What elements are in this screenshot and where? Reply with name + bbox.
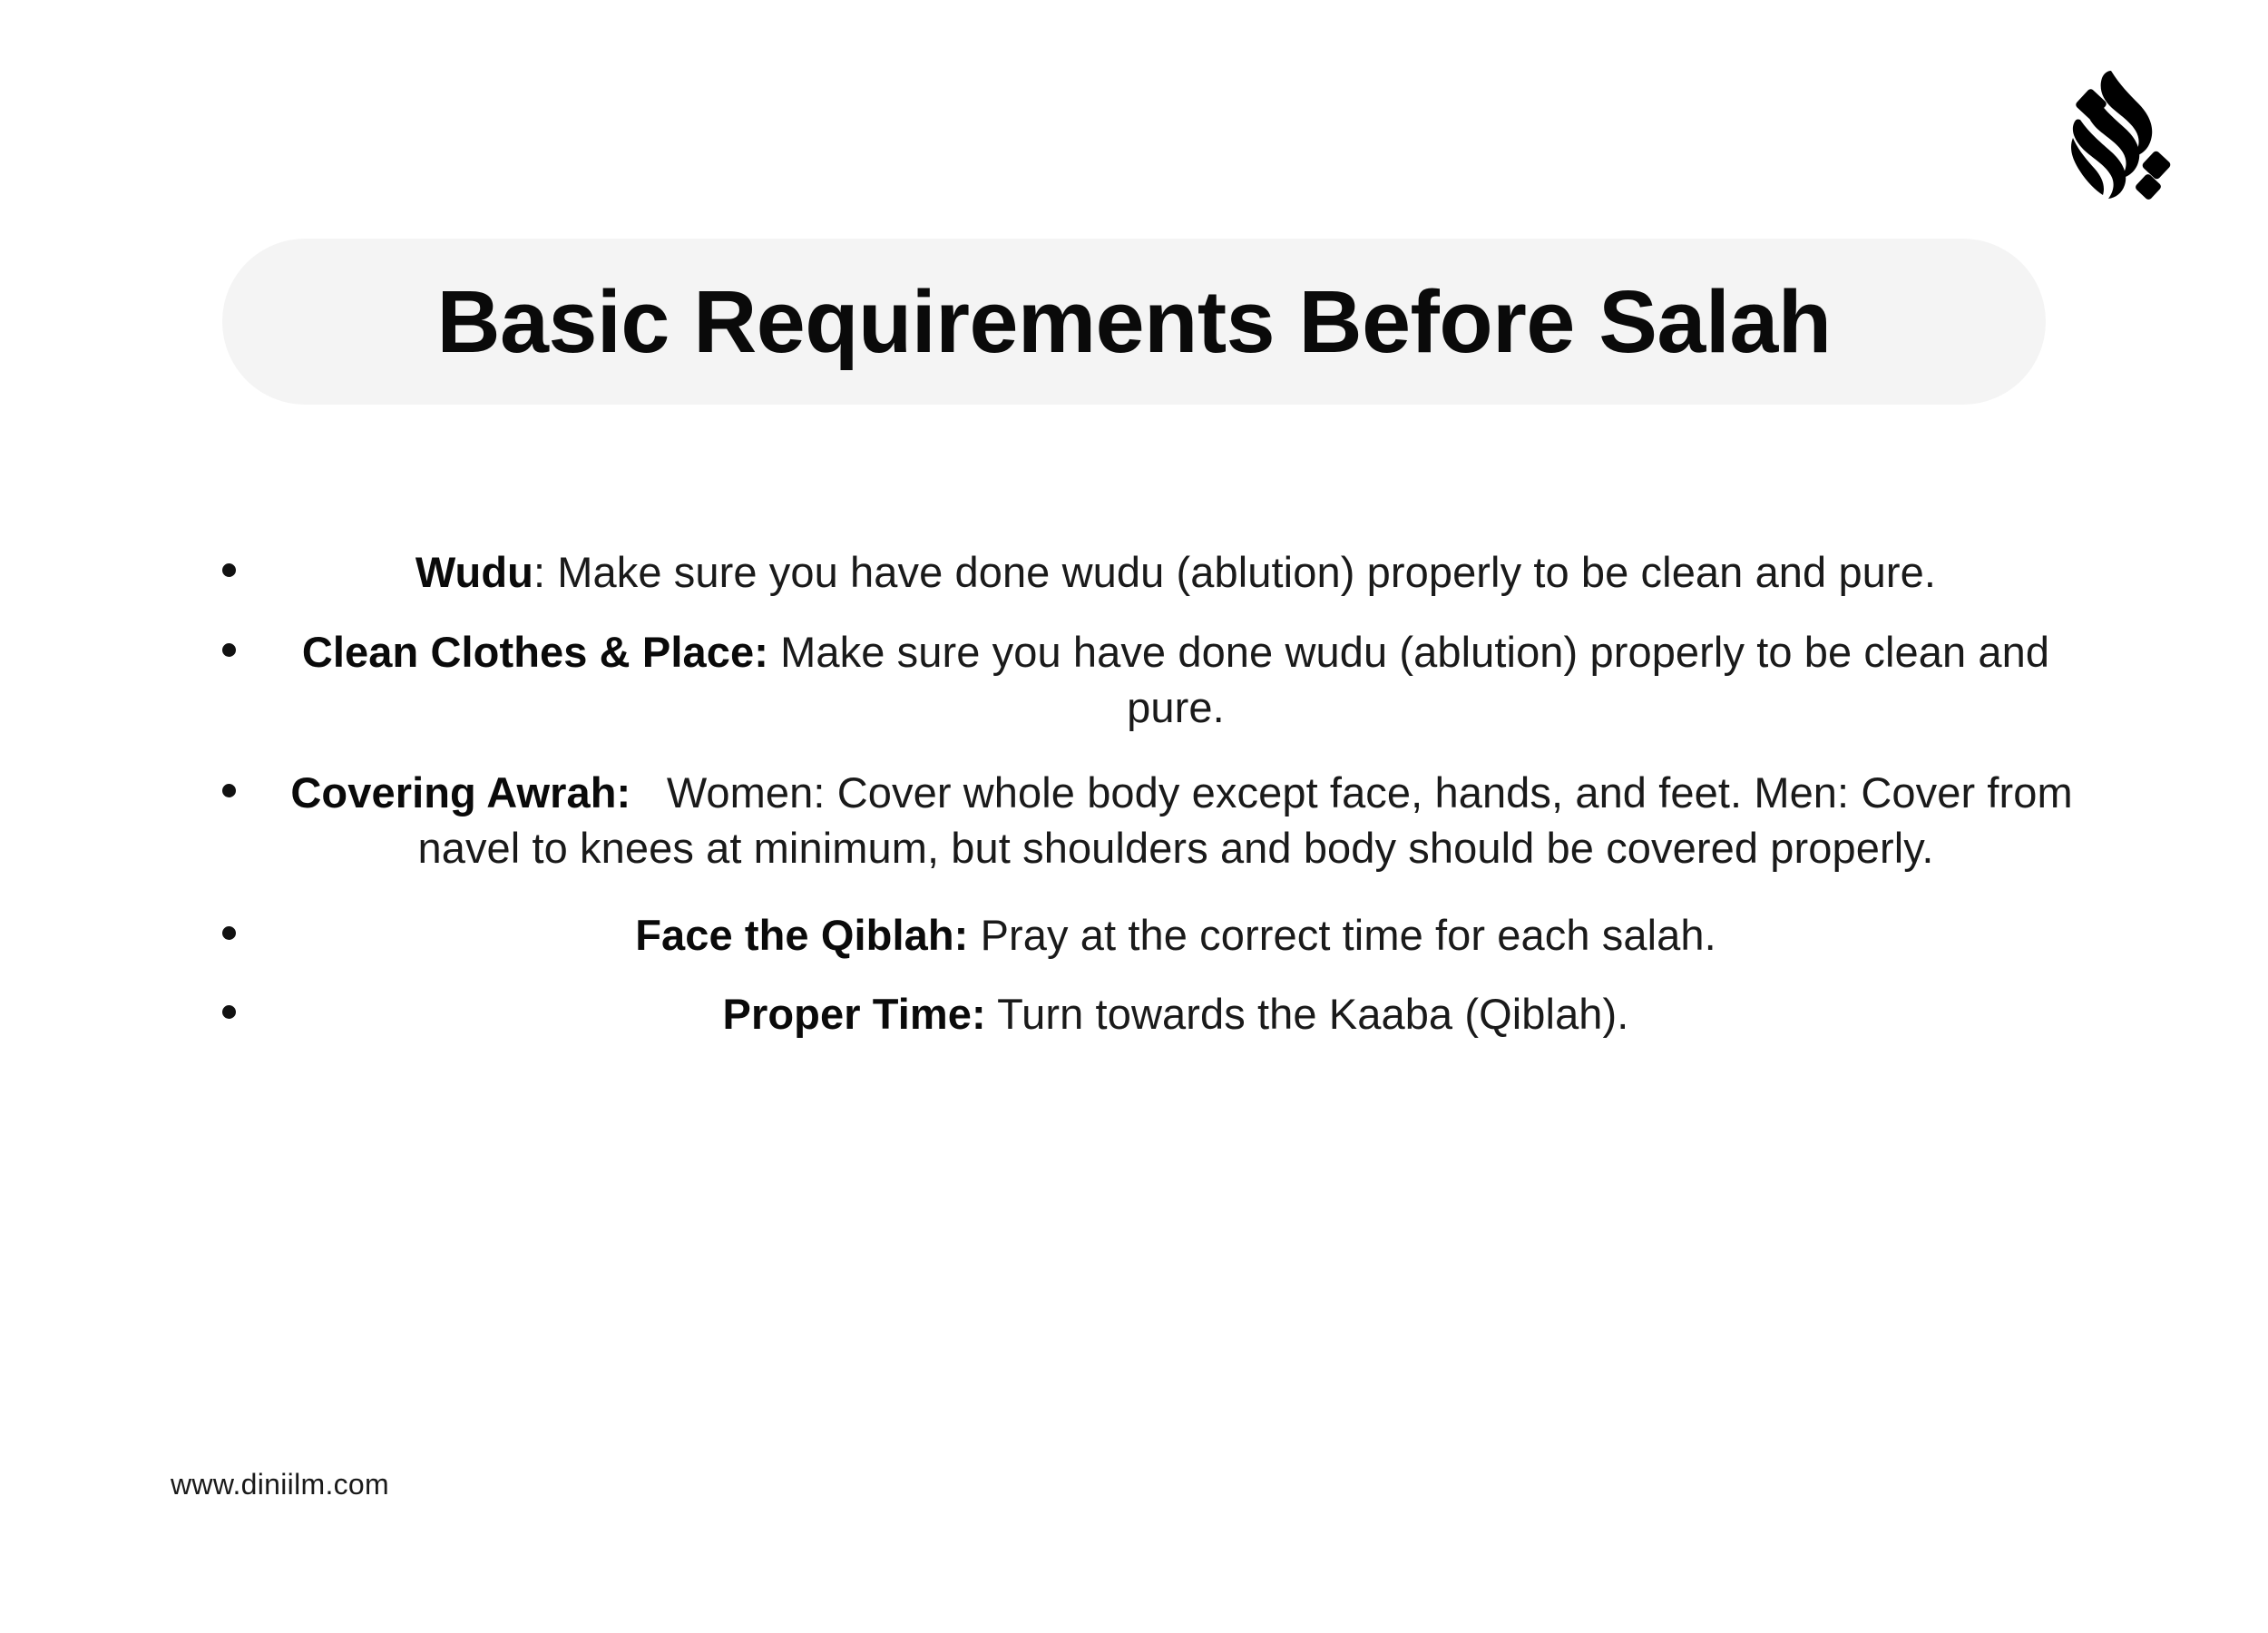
list-item-separator	[631, 768, 666, 816]
list-item: Proper Time: Turn towards the Kaaba (Qib…	[222, 986, 2087, 1042]
bullet-dot-icon	[222, 624, 265, 657]
list-item: Face the Qiblah: Pray at the correct tim…	[222, 907, 2087, 963]
list-item-label: Wudu	[415, 548, 533, 596]
page-title: Basic Requirements Before Salah	[436, 276, 1831, 368]
list-item-text: Covering Awrah: Women: Cover whole body …	[265, 765, 2087, 876]
bullet-dot-icon	[222, 907, 265, 940]
list-item-text: Wudu: Make sure you have done wudu (ablu…	[265, 544, 2087, 601]
list-item-label: Face the Qiblah:	[635, 911, 968, 959]
list-item-separator	[968, 911, 980, 959]
list-item-separator: :	[533, 548, 557, 596]
list-item-body: Pray at the correct time for each salah.	[981, 911, 1716, 959]
arabic-calligraphy-logo	[2055, 64, 2182, 200]
bullet-dot-icon	[222, 544, 265, 577]
list-item-text: Proper Time: Turn towards the Kaaba (Qib…	[265, 986, 2087, 1042]
list-item: Wudu: Make sure you have done wudu (ablu…	[222, 544, 2087, 601]
list-item-separator	[986, 990, 997, 1038]
list-item-separator	[768, 628, 780, 676]
list-item-label: Covering Awrah:	[279, 768, 631, 816]
list-item: Clean Clothes & Place: Make sure you hav…	[222, 624, 2087, 736]
slide-canvas: Basic Requirements Before Salah Wudu: Ma…	[0, 0, 2268, 1633]
list-item-label: Proper Time:	[723, 990, 986, 1038]
list-item-body: Women: Cover whole body except face, han…	[417, 768, 2072, 873]
list-item-body: Turn towards the Kaaba (Qiblah).	[997, 990, 1628, 1038]
bullet-dot-icon	[222, 986, 265, 1019]
list-item-text: Face the Qiblah: Pray at the correct tim…	[265, 907, 2087, 963]
page-title-pill: Basic Requirements Before Salah	[222, 239, 2046, 405]
bullet-dot-icon	[222, 765, 265, 797]
list-item-text: Clean Clothes & Place: Make sure you hav…	[265, 624, 2087, 736]
list-item-label: Clean Clothes & Place:	[302, 628, 768, 676]
list-item-body: Make sure you have done wudu (ablution) …	[557, 548, 1936, 596]
list-item: Covering Awrah: Women: Cover whole body …	[222, 765, 2087, 876]
requirements-list: Wudu: Make sure you have done wudu (ablu…	[222, 544, 2087, 1042]
footer-url[interactable]: www.diniilm.com	[171, 1468, 389, 1501]
list-item-body: Make sure you have done wudu (ablution) …	[780, 628, 2049, 732]
